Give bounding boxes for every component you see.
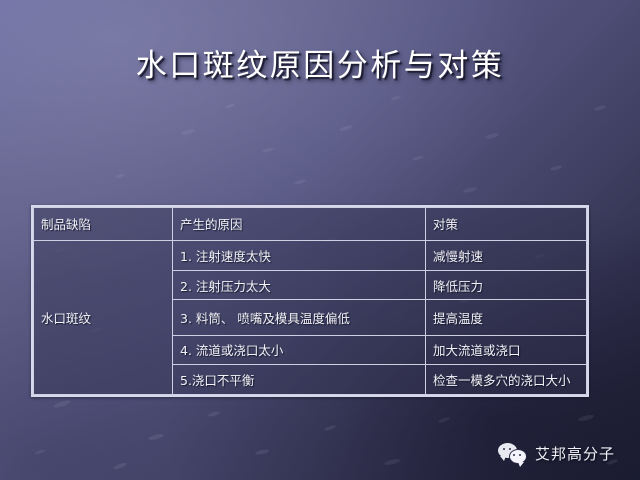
cause-cell: 5.浇口不平衡	[173, 365, 426, 395]
watermark: 艾邦高分子	[498, 438, 615, 468]
cause-cell: 2. 注射压力太大	[173, 270, 426, 300]
header-cell-defect: 制品缺陷	[34, 208, 173, 241]
wechat-icon	[498, 442, 528, 464]
cause-cell: 1. 注射速度太快	[173, 240, 426, 270]
countermeasure-cell: 加大流道或浇口	[426, 335, 587, 365]
header-cell-countermeasure: 对策	[426, 208, 587, 241]
slide-canvas: 水口斑纹原因分析与对策 制品缺陷 产生的原因 对策 水口斑纹 1. 注射速度太快…	[0, 0, 640, 480]
cause-cell: 4. 流道或浇口太小	[173, 335, 426, 365]
defect-name-cell: 水口斑纹	[34, 240, 173, 394]
table-header-row: 制品缺陷 产生的原因 对策	[34, 208, 587, 241]
countermeasure-cell: 降低压力	[426, 270, 587, 300]
defect-analysis-table: 制品缺陷 产生的原因 对策 水口斑纹 1. 注射速度太快 减慢射速 2. 注射压…	[31, 205, 589, 397]
watermark-label: 艾邦高分子	[535, 443, 615, 464]
countermeasure-cell: 检查一模多穴的浇口大小	[426, 365, 587, 395]
table-row: 水口斑纹 1. 注射速度太快 减慢射速	[34, 240, 587, 270]
page-title: 水口斑纹原因分析与对策	[0, 46, 640, 86]
cause-cell: 3. 料筒、 喷嘴及模具温度偏低	[173, 300, 426, 335]
countermeasure-cell: 减慢射速	[426, 240, 587, 270]
countermeasure-cell: 提高温度	[426, 300, 587, 335]
header-cell-cause: 产生的原因	[173, 208, 426, 241]
